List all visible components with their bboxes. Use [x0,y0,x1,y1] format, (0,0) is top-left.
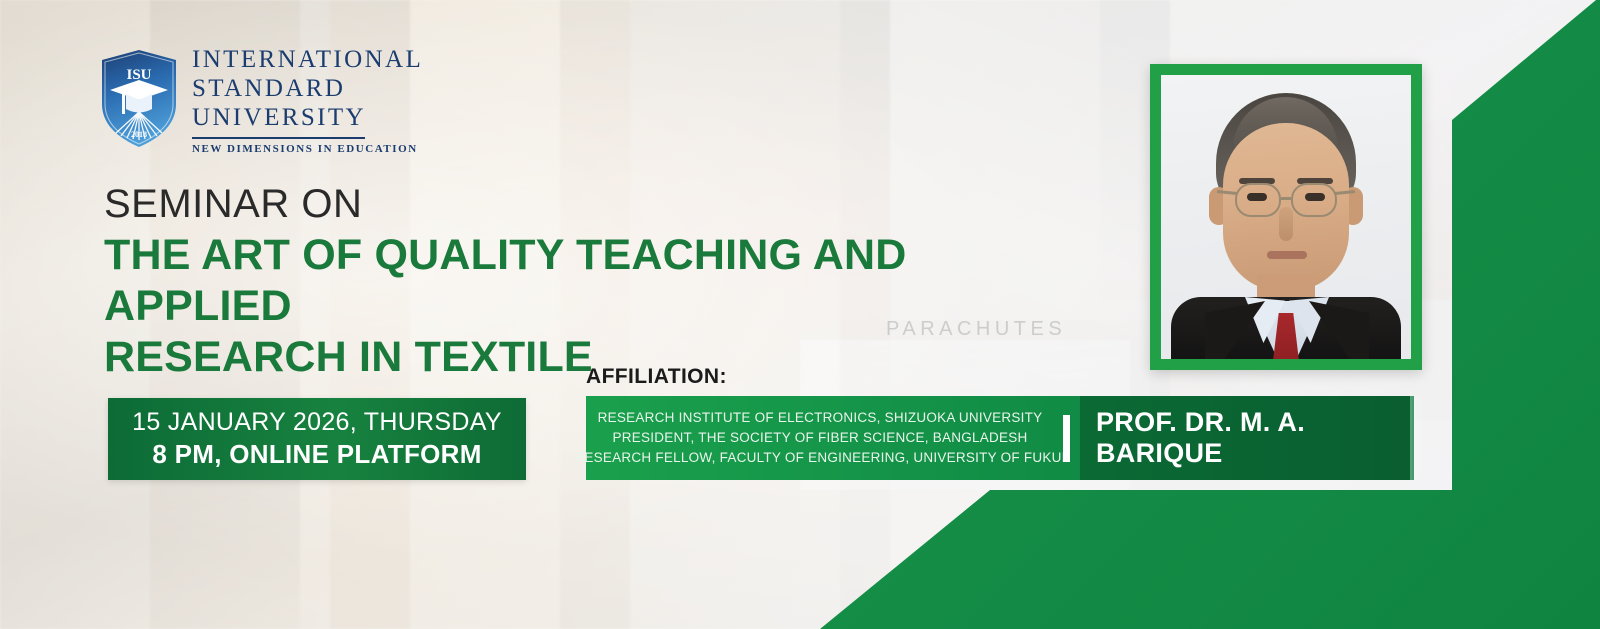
logo-name-line-1: INTERNATIONAL [192,45,423,74]
logo-name-line-3: UNIVERSITY [192,103,423,132]
speaker-name: PROF. DR. M. A. BARIQUE [1080,407,1410,469]
portrait-glasses-bridge [1281,197,1291,200]
speaker-portrait [1161,75,1411,359]
logo-tagline: NEW DIMENSIONS IN EDUCATION [192,143,423,155]
logo-name-line-2: STANDARD [192,74,423,103]
logo-divider [192,137,365,139]
affiliation-line-2: PRESIDENT, THE SOCIETY OF FIBER SCIENCE,… [612,428,1027,448]
page-title: THE ART OF QUALITY TEACHING AND APPLIED … [104,230,1064,383]
schedule-time-platform: 8 PM, ONLINE PLATFORM [152,439,481,470]
title-line-2: RESEARCH IN TEXTILE [104,332,1064,383]
title-line-1: THE ART OF QUALITY TEACHING AND APPLIED [104,230,1064,332]
portrait-glasses-lens-left [1235,183,1281,217]
affiliation-name-divider [1063,415,1070,462]
logo-wordmark: INTERNATIONAL STANDARD UNIVERSITY NEW DI… [192,43,423,155]
affiliation-label: AFFILIATION: [586,365,727,389]
schedule-date: 15 JANUARY 2026, THURSDAY [132,408,502,437]
affiliation-line-3: RESEARCH FELLOW, FACULTY OF ENGINEERING,… [574,448,1065,468]
university-logo: ISU 2018 INTERNATIONAL STANDARD UNIVERSI… [100,43,423,155]
portrait-mouth [1267,251,1307,259]
speaker-photo-frame [1150,64,1422,370]
speaker-panel-edge-highlight [1410,396,1424,480]
schedule-box: 15 JANUARY 2026, THURSDAY 8 PM, ONLINE P… [108,398,526,480]
svg-text:2018: 2018 [131,130,147,139]
portrait-glasses-lens-right [1291,183,1337,217]
eyebrow-heading: SEMINAR ON [104,182,362,227]
shield-icon: ISU 2018 [100,49,178,149]
affiliation-list: RESEARCH INSTITUTE OF ELECTRONICS, SHIZU… [586,396,1054,480]
portrait-nose [1279,207,1293,241]
seminar-banner: PARACHUTES ISU [0,0,1600,629]
affiliation-line-1: RESEARCH INSTITUTE OF ELECTRONICS, SHIZU… [598,408,1043,428]
speaker-name-panel: PROF. DR. M. A. BARIQUE [1080,396,1410,480]
